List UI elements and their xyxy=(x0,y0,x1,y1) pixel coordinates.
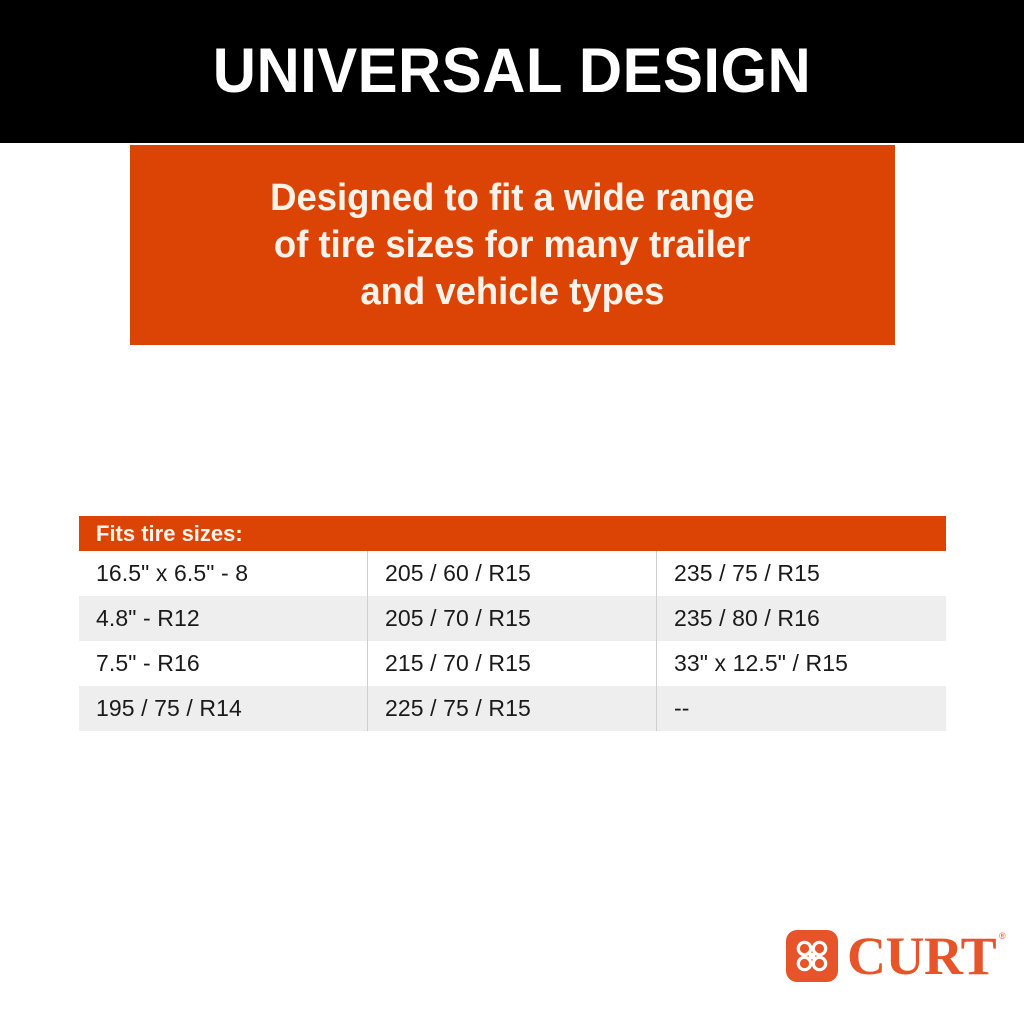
banner-line-1: Designed to fit a wide range xyxy=(270,175,754,222)
table-cell: 16.5" x 6.5" - 8 xyxy=(79,551,367,596)
table-cell: 235 / 80 / R16 xyxy=(656,596,946,641)
table-cell: 7.5" - R16 xyxy=(79,641,367,686)
table-cell: 205 / 60 / R15 xyxy=(367,551,656,596)
banner-line-3: and vehicle types xyxy=(360,269,664,316)
table-row: 4.8" - R12 205 / 70 / R15 235 / 80 / R16 xyxy=(79,596,946,641)
table-cell: 4.8" - R12 xyxy=(79,596,367,641)
table-cell: 195 / 75 / R14 xyxy=(79,686,367,731)
curt-wordmark-text: CURT xyxy=(847,926,996,986)
registered-trademark-icon: ® xyxy=(999,932,1005,941)
table-header-bar: Fits tire sizes: xyxy=(79,516,946,551)
curt-wordmark: CURT ® xyxy=(847,930,996,982)
table-row: 16.5" x 6.5" - 8 205 / 60 / R15 235 / 75… xyxy=(79,551,946,596)
table-cell: -- xyxy=(656,686,946,731)
table-cell: 205 / 70 / R15 xyxy=(367,596,656,641)
table-row: 195 / 75 / R14 225 / 75 / R15 -- xyxy=(79,686,946,731)
page-header: UNIVERSAL DESIGN xyxy=(0,0,1024,143)
table-cell: 215 / 70 / R15 xyxy=(367,641,656,686)
table-cell: 235 / 75 / R15 xyxy=(656,551,946,596)
table-row: 7.5" - R16 215 / 70 / R15 33" x 12.5" / … xyxy=(79,641,946,686)
tire-size-table: Fits tire sizes: 16.5" x 6.5" - 8 205 / … xyxy=(79,516,946,731)
table-cell: 33" x 12.5" / R15 xyxy=(656,641,946,686)
table-cell: 225 / 75 / R15 xyxy=(367,686,656,731)
curt-logo-mark-icon xyxy=(786,930,838,982)
table-header-label: Fits tire sizes: xyxy=(96,523,243,545)
banner-line-2: of tire sizes for many trailer xyxy=(274,222,750,269)
table-body: 16.5" x 6.5" - 8 205 / 60 / R15 235 / 75… xyxy=(79,551,946,731)
curt-logo: CURT ® xyxy=(786,928,976,984)
page-title: UNIVERSAL DESIGN xyxy=(213,40,811,103)
description-banner: Designed to fit a wide range of tire siz… xyxy=(130,145,895,345)
